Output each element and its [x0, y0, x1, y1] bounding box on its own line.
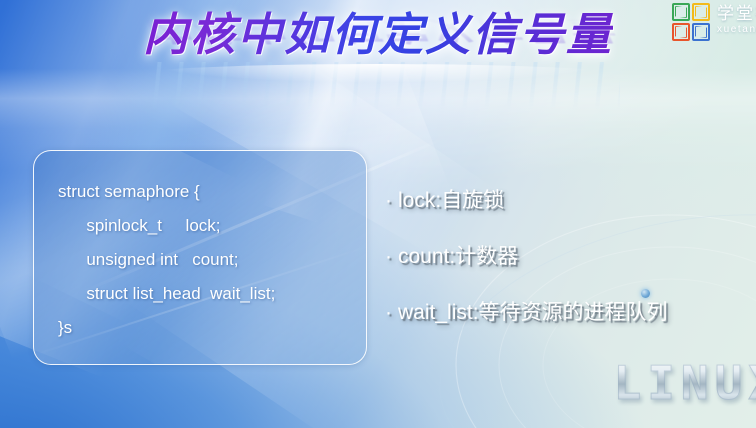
list-item: ·count:计数器: [385, 244, 756, 270]
logo-quadrant-red-icon: [672, 23, 690, 41]
list-item: ·wait_list:等待资源的进程队列: [385, 300, 756, 326]
presentation-slide: 内核中如何定义信号量 内核中如何定义信号量 学堂在 xuetang struct…: [0, 0, 756, 428]
brand-name-en: xuetang: [717, 24, 756, 36]
bullet-list: ·lock:自旋锁 ·count:计数器 ·wait_list:等待资源的进程队…: [385, 188, 756, 356]
xuetang-logo-icon: [672, 3, 710, 41]
slide-title-area: 内核中如何定义信号量 内核中如何定义信号量: [0, 6, 756, 106]
title-glow: [118, 64, 638, 90]
logo-quadrant-green-icon: [672, 3, 690, 21]
brand-logo-text: 学堂在 xuetang: [717, 3, 756, 36]
logo-quadrant-blue-icon: [692, 23, 710, 41]
brand-logo: 学堂在 xuetang: [672, 3, 756, 41]
code-panel: struct semaphore { spinlock_t lock; unsi…: [33, 150, 367, 365]
list-item-label: wait_list:等待资源的进程队列: [398, 301, 668, 324]
code-block: struct semaphore { spinlock_t lock; unsi…: [34, 151, 366, 345]
code-line: unsigned int count;: [58, 243, 366, 277]
list-item-label: count:计数器: [398, 245, 518, 268]
brand-name-cn: 学堂在: [717, 4, 756, 24]
code-line: spinlock_t lock;: [58, 209, 366, 243]
code-line: struct semaphore {: [58, 175, 366, 209]
bullet-marker-icon: ·: [385, 244, 392, 270]
linux-watermark: LINUX: [614, 356, 756, 410]
bullet-marker-icon: ·: [385, 300, 392, 326]
list-item-label: lock:自旋锁: [398, 189, 504, 212]
logo-quadrant-yellow-icon: [692, 3, 710, 21]
list-item: ·lock:自旋锁: [385, 188, 756, 214]
title-reflection: 内核中如何定义信号量: [0, 12, 756, 48]
bullet-marker-icon: ·: [385, 188, 392, 214]
code-line: struct list_head wait_list;: [58, 277, 366, 311]
code-line: }s: [58, 311, 366, 345]
